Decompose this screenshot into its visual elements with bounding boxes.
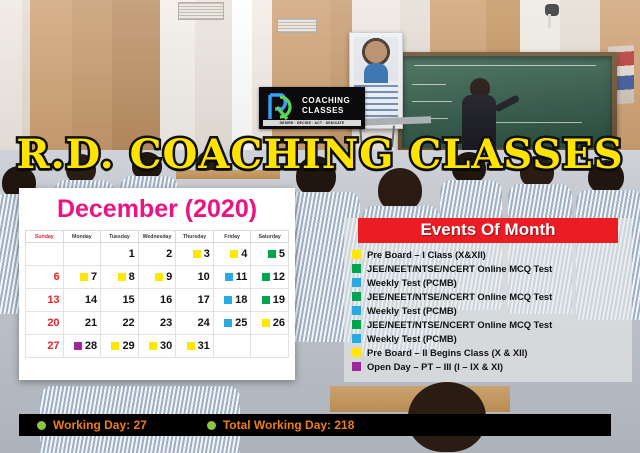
calendar-day-number: 17 [198,294,210,306]
event-legend-item: JEE/NEET/NTSE/NCERT Online MCQ Test [352,263,626,274]
calendar-day-number: 12 [273,271,285,283]
event-legend-item: JEE/NEET/NTSE/NCERT Online MCQ Test [352,291,626,302]
event-legend-item: Pre Board – II Begins Class (X & XII) [352,347,626,358]
working-day-item: Working Day: 27 [37,418,147,432]
event-marker-icon [230,250,238,258]
event-color-swatch-icon [352,306,361,315]
event-marker-icon [155,273,163,281]
weekday-header-saturday: Saturday [251,231,289,243]
calendar-day-cell[interactable]: 6 [26,266,64,289]
calendar-day-number: 18 [235,294,247,306]
calendar-day-cell[interactable]: 9 [138,266,176,289]
event-legend-label: JEE/NEET/NTSE/NCERT Online MCQ Test [367,319,552,330]
calendar-day-cell[interactable]: 30 [138,335,176,358]
event-color-swatch-icon [352,334,361,343]
calendar-day-cell [251,335,289,358]
event-marker-icon [111,342,119,350]
events-legend-list: Pre Board – I Class (X&XII)JEE/NEET/NTSE… [344,249,632,372]
calendar-day-number: 27 [47,340,59,352]
event-legend-label: Open Day – PT – III (I – IX & XI) [367,361,503,372]
calendar-day-cell[interactable]: 4 [213,243,251,266]
weekday-header-tuesday: Tuesday [101,231,139,243]
calendar-day-cell[interactable]: 18 [213,289,251,312]
event-legend-label: Weekly Test (PCMB) [367,333,457,344]
calendar-week-row: 12345 [26,243,289,266]
calendar-day-number: 2 [166,248,172,260]
calendar-day-cell[interactable]: 24 [176,312,214,335]
event-legend-item: Weekly Test (PCMB) [352,305,626,316]
page-title: R.D. COACHING CLASSES [0,131,640,178]
calendar-day-cell[interactable]: 23 [138,312,176,335]
calendar-day-cell[interactable]: 19 [251,289,289,312]
calendar-day-number: 29 [122,340,134,352]
calendar-day-number: 8 [129,271,135,283]
calendar-day-cell[interactable]: 31 [176,335,214,358]
calendar-body: 1234567891011121314151617181920212223242… [26,243,289,358]
calendar-day-number: 13 [47,294,59,306]
calendar-day-cell[interactable]: 15 [101,289,139,312]
event-marker-icon [224,319,232,327]
calendar-day-cell[interactable]: 27 [26,335,64,358]
calendar-day-number: 10 [198,271,210,283]
event-legend-label: Pre Board – II Begins Class (X & XII) [367,347,527,358]
events-panel: Events Of Month Pre Board – I Class (X&X… [344,218,632,382]
event-marker-icon [193,250,201,258]
calendar-day-number: 25 [235,317,247,329]
event-marker-icon [74,342,82,350]
calendar-panel: December (2020) Sunday Monday Tuesday We… [19,188,295,380]
event-marker-icon [80,273,88,281]
calendar-day-cell[interactable]: 20 [26,312,64,335]
calendar-day-cell[interactable]: 10 [176,266,214,289]
event-legend-item: JEE/NEET/NTSE/NCERT Online MCQ Test [352,319,626,330]
event-legend-item: Pre Board – I Class (X&XII) [352,249,626,260]
calendar-day-number: 23 [160,317,172,329]
event-color-swatch-icon [352,320,361,329]
calendar-day-cell[interactable]: 28 [63,335,101,358]
calendar-day-number: 24 [198,317,210,329]
poster-slide: COACHING CLASSES DESIRE · DECIDE · ACT ·… [0,0,640,453]
bullet-icon [37,421,46,430]
calendar-day-number: 30 [160,340,172,352]
calendar-day-cell[interactable]: 16 [138,289,176,312]
event-legend-item: Open Day – PT – III (I – IX & XI) [352,361,626,372]
calendar-day-number: 16 [160,294,172,306]
event-color-swatch-icon [352,292,361,301]
event-color-swatch-icon [352,250,361,259]
calendar-day-cell[interactable]: 1 [101,243,139,266]
weekday-header-sunday: Sunday [26,231,64,243]
event-marker-icon [262,296,270,304]
calendar-day-cell[interactable]: 11 [213,266,251,289]
calendar-day-number: 26 [273,317,285,329]
event-legend-label: Weekly Test (PCMB) [367,277,457,288]
event-marker-icon [149,342,157,350]
calendar-day-number: 7 [91,271,97,283]
event-marker-icon [225,273,233,281]
calendar-weekday-header-row: Sunday Monday Tuesday Wednesday Thursday… [26,231,289,243]
calendar-day-number: 15 [122,294,134,306]
calendar-day-number: 31 [198,340,210,352]
calendar-day-number: 9 [166,271,172,283]
calendar-day-cell [63,243,101,266]
calendar-day-cell[interactable]: 5 [251,243,289,266]
calendar-day-cell[interactable]: 8 [101,266,139,289]
calendar-day-cell[interactable]: 12 [251,266,289,289]
calendar-day-cell[interactable]: 26 [251,312,289,335]
calendar-day-cell[interactable]: 22 [101,312,139,335]
calendar-day-cell[interactable]: 14 [63,289,101,312]
calendar-day-number: 4 [241,248,247,260]
event-color-swatch-icon [352,264,361,273]
calendar-day-cell[interactable]: 2 [138,243,176,266]
calendar-day-cell[interactable]: 13 [26,289,64,312]
event-color-swatch-icon [352,348,361,357]
calendar-day-number: 3 [204,248,210,260]
calendar-day-number: 1 [129,248,135,260]
calendar-day-cell[interactable]: 7 [63,266,101,289]
weekday-header-wednesday: Wednesday [138,231,176,243]
event-marker-icon [262,273,270,281]
event-marker-icon [118,273,126,281]
event-marker-icon [262,319,270,327]
total-working-day-label: Total Working Day: 218 [223,418,355,432]
event-legend-label: Pre Board – I Class (X&XII) [367,249,486,260]
calendar-day-number: 6 [53,271,59,283]
event-legend-label: Weekly Test (PCMB) [367,305,457,316]
footer-bar: Working Day: 27 Total Working Day: 218 [19,414,611,436]
calendar-day-number: 20 [47,317,59,329]
calendar-day-cell[interactable]: 17 [176,289,214,312]
calendar-week-row: 13141516171819 [26,289,289,312]
calendar-grid: Sunday Monday Tuesday Wednesday Thursday… [25,230,289,358]
calendar-day-number: 11 [236,271,248,283]
calendar-week-row: 6789101112 [26,266,289,289]
event-color-swatch-icon [352,362,361,371]
calendar-day-cell[interactable]: 29 [101,335,139,358]
calendar-day-number: 28 [85,340,97,352]
rd-monogram-icon [266,92,296,122]
calendar-day-cell [213,335,251,358]
calendar-week-row: 20212223242526 [26,312,289,335]
bullet-icon [207,421,216,430]
calendar-day-cell [26,243,64,266]
event-legend-label: JEE/NEET/NTSE/NCERT Online MCQ Test [367,291,552,302]
calendar-day-cell[interactable]: 3 [176,243,214,266]
calendar-day-number: 14 [85,294,97,306]
calendar-week-row: 2728293031 [26,335,289,358]
calendar-month-heading: December (2020) [19,188,295,227]
calendar-day-number: 19 [273,294,285,306]
event-legend-item: Weekly Test (PCMB) [352,333,626,344]
calendar-day-cell[interactable]: 21 [63,312,101,335]
working-day-label: Working Day: 27 [53,418,147,432]
calendar-day-number: 5 [279,248,285,260]
calendar-day-number: 22 [122,317,134,329]
total-working-day-item: Total Working Day: 218 [207,418,355,432]
weekday-header-friday: Friday [213,231,251,243]
event-marker-icon [224,296,232,304]
logo-wordmark: COACHING CLASSES [302,96,350,116]
weekday-header-monday: Monday [63,231,101,243]
logo-tagline-strip: DESIRE · DECIDE · ACT · DEDICATE [263,120,361,126]
event-legend-item: Weekly Test (PCMB) [352,277,626,288]
event-color-swatch-icon [352,278,361,287]
event-legend-label: JEE/NEET/NTSE/NCERT Online MCQ Test [367,263,552,274]
weekday-header-thursday: Thursday [176,231,214,243]
calendar-day-number: 21 [85,317,97,329]
brand-logo: COACHING CLASSES DESIRE · DECIDE · ACT ·… [259,87,365,129]
calendar-day-cell[interactable]: 25 [213,312,251,335]
event-marker-icon [187,342,195,350]
events-heading: Events Of Month [358,218,618,243]
event-marker-icon [268,250,276,258]
